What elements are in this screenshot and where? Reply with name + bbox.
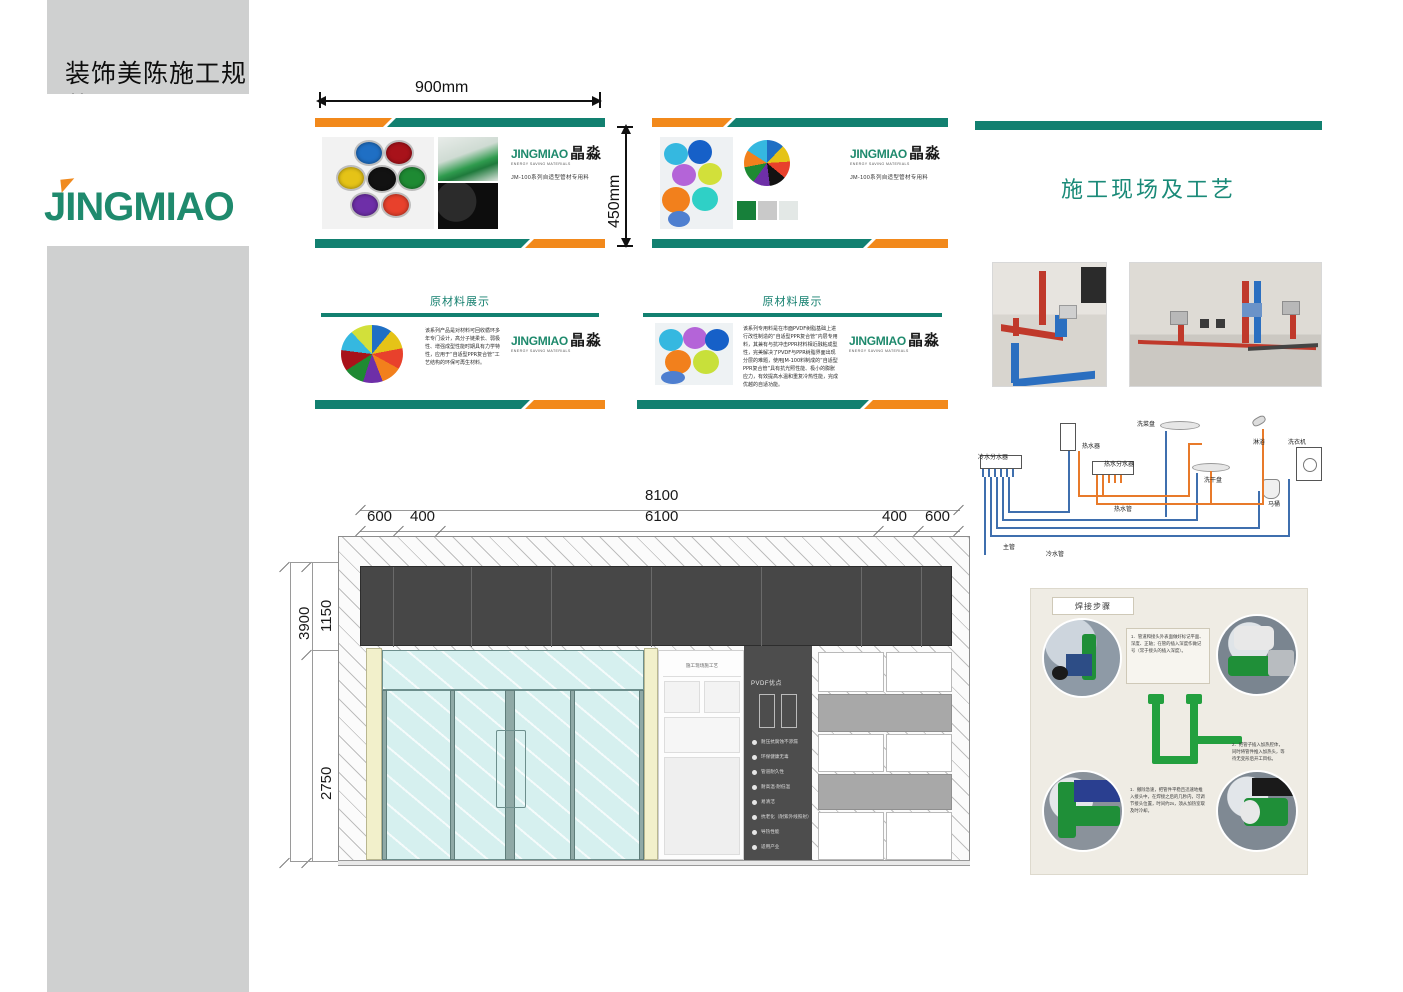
elevation-lower-height: 2750: [318, 767, 335, 800]
section-heading: 原材料展示: [315, 293, 605, 309]
color-wheel-image: [333, 323, 416, 385]
toilet-icon: [1262, 479, 1280, 499]
display-tile: [886, 652, 952, 692]
plumbing-label: 洗衣机: [1288, 437, 1306, 446]
plumbing-label: 洗干盘: [1204, 475, 1222, 484]
banner-stripe-bottom: [315, 239, 605, 248]
pellet-jars-image: [660, 137, 733, 229]
section-body-text: 该系列产品是对材料可回收循环多年专门设计，高分子链柔长、弱极性、增强成型性能时期…: [425, 327, 503, 367]
dim-height-tick-bottom: [617, 245, 633, 247]
plumbing-label: 冷水分水器: [978, 452, 1008, 461]
pvdf-item: 导热性能: [761, 829, 779, 835]
green-granule-swatch: [737, 201, 756, 220]
white-granule-swatch: [779, 201, 798, 220]
display-tile: [818, 694, 952, 732]
brandmark-en: JINGMIAO: [849, 334, 906, 348]
plumbing-label: 热水器: [1082, 441, 1100, 450]
logo-text-jing: JING: [44, 185, 133, 229]
brandmark-en: JINGMIAO: [850, 147, 907, 161]
banner-bottom-left: 原材料展示 该系列产品是对材料可回收循环多年专门设计，高分子链柔长、弱极性、增强…: [315, 285, 605, 413]
pvdf-item: 管道耐久性: [761, 769, 784, 775]
weld-step-photo-3: [1042, 770, 1124, 852]
dim-width-tick-right: [599, 92, 601, 108]
door-mullion: [570, 690, 575, 860]
brandmark-en: JINGMIAO: [511, 147, 568, 161]
section-rule: [321, 313, 599, 317]
pvdf-bullet-icon: [752, 800, 757, 805]
kitchen-sink-icon: [1160, 421, 1200, 430]
brandmark-cn: 晶淼: [570, 145, 602, 162]
pvdf-item: 耐压抗腐蚀不渗漏: [761, 739, 798, 745]
display-tile: [818, 734, 884, 772]
section-rule: [643, 313, 942, 317]
display-tile: [886, 734, 952, 772]
banner-stripe-top: [315, 118, 605, 127]
dim-height-label: 450mm: [606, 175, 624, 228]
sidebar-body-panel: [47, 246, 249, 992]
water-heater-icon: [1060, 423, 1076, 451]
banner-stripe-bottom: [637, 400, 948, 409]
banner-bottom-right: 原材料展示 该系列专用料是在市面PVDF树脂基础上进行改性制造的“自适型PPR复…: [637, 285, 948, 413]
pvdf-item: 适用产业: [761, 844, 779, 850]
pvdf-bullet-icon: [752, 770, 757, 775]
elevation-seg-3: 6100: [645, 508, 678, 525]
welding-note-1: 1．管道和接头外表面做好标记平面、深度、正轴；在管的插入深度作做记号（常于接头的…: [1126, 628, 1210, 684]
door-handle[interactable]: [496, 730, 526, 808]
pvdf-item: 易清洁: [761, 799, 775, 805]
banner-brandmark: JINGMIAO晶淼 ENERGY SAVING MATERIALS JM-10…: [850, 142, 942, 184]
elevation-seg-2: 400: [410, 508, 435, 525]
brandmark-en: JINGMIAO: [511, 334, 568, 348]
wall-pipes-photo: [1129, 262, 1322, 387]
dim-height-tick-top: [617, 126, 633, 128]
cold-pipe: [984, 477, 986, 555]
poster-page: 装饰美陈施工规范 JINGMIAO 900mm 450mm: [0, 0, 1403, 992]
brandmark-en-sub: ENERGY SAVING MATERIALS: [849, 349, 941, 353]
pellet-jars-image: [655, 323, 733, 385]
pvdf-bullet-icon: [752, 830, 757, 835]
site-pipes-photo: [992, 262, 1107, 387]
welding-note-3: 1．撤除急速，把管件平稳且迅速地推入接头中，在焊接之后的几秒内，可调节接头位置，…: [1126, 782, 1210, 836]
pvdf-bullet-icon: [752, 755, 757, 760]
display-tile: [886, 812, 952, 860]
elevation-floor-line: [338, 860, 970, 866]
dim-width-label: 900mm: [415, 79, 468, 97]
banner-stripe-top: [652, 118, 948, 127]
door-mullion: [450, 690, 455, 860]
poster-title: 施工现场施工艺: [663, 655, 741, 677]
black-granules-image: [438, 183, 498, 229]
banner-brandmark: JINGMIAO晶淼 ENERGY SAVING MATERIALS: [511, 329, 601, 353]
shower-head-icon: [1251, 414, 1267, 428]
banner-brandmark: JINGMIAO晶淼 ENERGY SAVING MATERIALS JM-10…: [511, 142, 601, 184]
banner-brandmark: JINGMIAO晶淼 ENERGY SAVING MATERIALS: [849, 329, 941, 353]
gray-granule-swatch: [758, 201, 777, 220]
welding-note-2: 2．把管子插入加热腔体，同时将管件推入加热头，等待无变形后开工目标。: [1228, 737, 1290, 779]
banner-top-left: JINGMIAO晶淼 ENERGY SAVING MATERIALS JM-10…: [315, 115, 605, 253]
hot-pipe: [1078, 451, 1080, 497]
display-tile: [818, 812, 884, 860]
elevation-total-height: 3900: [296, 607, 313, 640]
elevation-seg-5: 600: [925, 508, 950, 525]
section-body-text: 该系列专用料是在市面PVDF树脂基础上进行改性制造的“自适型PPR复合管”内层专…: [743, 325, 839, 389]
green-pipe-image: [438, 137, 498, 181]
section-heading: 原材料展示: [637, 293, 948, 309]
pvdf-panel: PVDF优点 耐压抗腐蚀不渗漏 环保健康无毒 管道耐久性 耐高温·耐低温 易清洁…: [744, 646, 812, 860]
dim-line-segments: [360, 531, 960, 532]
dim-line-split: [312, 562, 313, 862]
brandmark-cn: 晶淼: [909, 145, 941, 162]
welding-steps-title: 焊接步骤: [1052, 597, 1134, 615]
banner-top-right: JINGMIAO晶淼 ENERGY SAVING MATERIALS JM-10…: [652, 115, 948, 253]
brandmark-cn: 晶淼: [570, 332, 602, 349]
brand-logo: JINGMIAO: [44, 182, 254, 232]
brandmark-cn: 晶淼: [908, 332, 940, 349]
plumbing-label: 淋浴: [1253, 437, 1265, 446]
pvdf-bullet-icon: [752, 845, 757, 850]
pvdf-item: 抗老化（耐紫外线照射）: [761, 814, 812, 820]
dim-height-line: [625, 128, 627, 246]
logo-text-miao: MIAO: [133, 185, 233, 229]
flag-accent-icon: [60, 178, 75, 192]
dim-line-total-h: [290, 562, 291, 862]
pvdf-item: 耐高温·耐低温: [761, 784, 790, 790]
brandmark-product: JM-100系列自适型管材专用料: [511, 175, 589, 181]
door-mullion: [382, 690, 387, 860]
plumbing-label: 热水管: [1114, 504, 1132, 513]
elevation-total-width: 8100: [645, 487, 678, 504]
color-wheel-image: [737, 137, 797, 199]
weld-step-photo-4: [1216, 770, 1298, 852]
interior-poster-left: 施工现场施工艺: [658, 650, 744, 860]
dim-width-tick-left: [319, 92, 321, 108]
banner-stripe-bottom: [315, 400, 605, 409]
pvdf-bullet-icon: [752, 815, 757, 820]
plumbing-label: 冷水管: [1046, 549, 1064, 558]
brandmark-en-sub: ENERGY SAVING MATERIALS: [850, 162, 942, 166]
ppr-fitting-icon: [1152, 700, 1160, 762]
banner-stripe-bottom: [652, 239, 948, 248]
plumbing-label: 马桶: [1268, 499, 1280, 508]
right-column-title: 施工现场及工艺: [975, 172, 1322, 204]
display-tile: [818, 652, 884, 692]
pvdf-item: 环保健康无毒: [761, 754, 789, 760]
weld-step-photo-1: [1042, 618, 1122, 698]
right-column-topbar: [975, 121, 1322, 130]
door-mullion: [639, 690, 644, 860]
brandmark-en-sub: ENERGY SAVING MATERIALS: [511, 162, 601, 166]
elevation-soffit: [360, 566, 952, 646]
brandmark-en-sub: ENERGY SAVING MATERIALS: [511, 349, 601, 353]
elevation-left-jamb: [366, 648, 382, 860]
elevation-seg-4: 400: [882, 508, 907, 525]
weld-step-photo-2: [1216, 614, 1298, 696]
pvdf-bullet-icon: [752, 740, 757, 745]
plumbing-label: 热水分水器: [1104, 459, 1134, 468]
washing-machine-icon: [1296, 447, 1322, 481]
pvdf-title: PVDF优点: [751, 678, 782, 687]
dim-arrow-left-icon: [316, 96, 326, 106]
display-tile: [818, 774, 952, 810]
elevation-right-jamb: [644, 648, 658, 860]
elevation-upper-height: 1150: [318, 600, 335, 632]
plumbing-label: 主管: [1003, 542, 1015, 551]
brandmark-product: JM-100系列自适型管材专用料: [850, 175, 928, 181]
dim-width-line: [320, 100, 601, 102]
plumbing-label: 洗菜盘: [1137, 419, 1155, 428]
pvdf-bullet-icon: [752, 785, 757, 790]
elevation-seg-1: 600: [367, 508, 392, 525]
elevation-transom-glass: [382, 650, 644, 690]
pellet-dishes-image: [322, 137, 434, 229]
